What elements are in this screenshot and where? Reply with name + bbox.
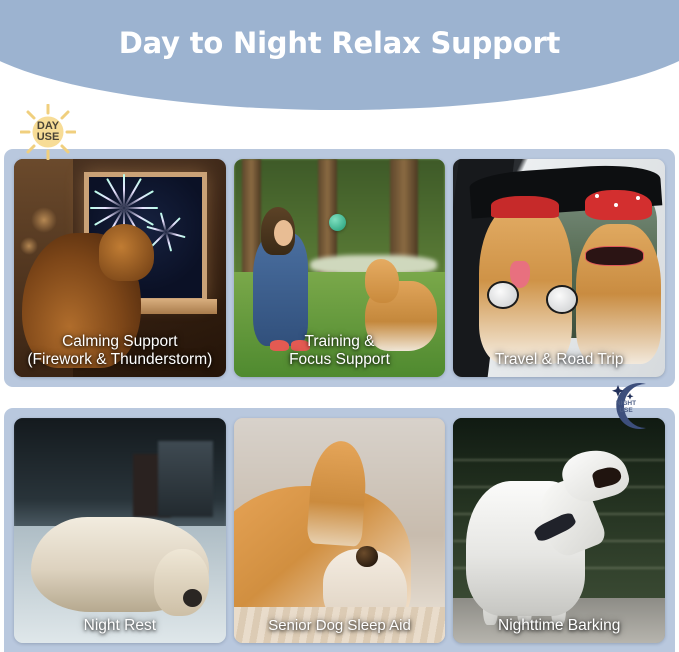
night-card-row: Night Rest Senior Dog Sleep Aid — [14, 418, 665, 643]
card-travel-road-trip[interactable]: Travel & Road Trip — [453, 159, 665, 377]
card-image-nighttime-barking — [453, 418, 665, 643]
page-title: Day to Night Relax Support — [0, 26, 679, 60]
sun-icon: DAY USE — [20, 104, 76, 160]
day-use-panel: Calming Support (Firework & Thunderstorm… — [4, 149, 675, 387]
infographic-page: Day to Night Relax Support — [0, 0, 679, 652]
card-caption: Calming Support (Firework & Thunderstorm… — [18, 333, 222, 369]
card-caption: Night Rest — [18, 617, 222, 635]
card-night-rest[interactable]: Night Rest — [14, 418, 226, 643]
card-image-travel-road-trip — [453, 159, 665, 377]
card-caption: Travel & Road Trip — [457, 351, 661, 369]
card-calming-support[interactable]: Calming Support (Firework & Thunderstorm… — [14, 159, 226, 377]
card-nighttime-barking[interactable]: Nighttime Barking — [453, 418, 665, 643]
night-use-panel: Night Rest Senior Dog Sleep Aid — [4, 408, 675, 652]
card-caption: Senior Dog Sleep Aid — [238, 617, 442, 635]
moon-icon: NIGHT USE — [600, 380, 658, 432]
day-card-row: Calming Support (Firework & Thunderstorm… — [14, 159, 665, 377]
card-senior-dog-sleep-aid[interactable]: Senior Dog Sleep Aid — [234, 418, 446, 643]
card-caption: Training & Focus Support — [238, 333, 442, 369]
card-caption: Nighttime Barking — [457, 617, 661, 635]
header-banner: Day to Night Relax Support — [0, 0, 679, 110]
card-image-senior-dog-sleep-aid — [234, 418, 446, 643]
card-training-focus[interactable]: Training & Focus Support — [234, 159, 446, 377]
card-image-night-rest — [14, 418, 226, 643]
